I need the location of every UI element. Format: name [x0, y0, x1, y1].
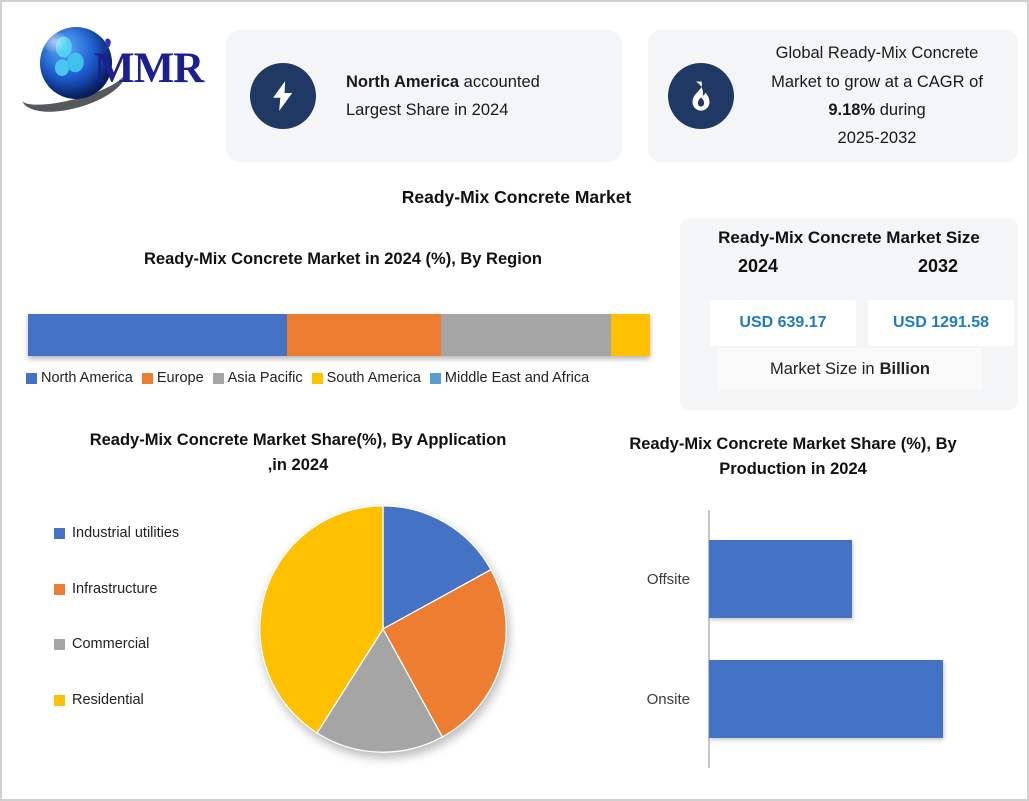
lightning-bolt-icon	[250, 63, 316, 129]
market-size-unit-bold: Billion	[880, 360, 930, 379]
market-size-unit-prefix: Market Size in	[770, 360, 875, 379]
region-legend-item[interactable]: South America	[312, 370, 421, 386]
legend-swatch-icon	[312, 373, 323, 384]
header-card-cagr-text: Global Ready-Mix Concrete Market to grow…	[750, 39, 1004, 153]
region-legend-label: North America	[41, 370, 133, 386]
application-legend-item[interactable]: Infrastructure	[54, 580, 234, 600]
application-legend-label: Infrastructure	[72, 580, 157, 600]
market-size-value-right: USD 1291.58	[868, 300, 1014, 346]
legend-swatch-icon	[54, 639, 65, 650]
pie-svg	[256, 502, 510, 756]
market-size-value-left: USD 639.17	[710, 300, 856, 346]
infographic-page: ’ MMR North America accounted Largest Sh…	[0, 0, 1029, 801]
page-title: Ready-Mix Concrete Market	[2, 187, 1029, 208]
production-chart-panel: Ready-Mix Concrete Market Share (%), By …	[568, 432, 1018, 782]
production-bar-row: Offsite	[608, 540, 1008, 618]
cagr-line2: Market to grow at a CAGR of	[750, 68, 1004, 96]
application-legend-label: Residential	[72, 691, 144, 711]
region-legend-label: Asia Pacific	[228, 370, 303, 386]
production-category-label: Onsite	[608, 660, 700, 738]
application-chart-title: Ready-Mix Concrete Market Share(%), By A…	[88, 428, 508, 478]
logo-wordmark: MMR	[94, 44, 203, 93]
region-chart-title: Ready-Mix Concrete Market in 2024 (%), B…	[48, 248, 638, 272]
header-bar: ’ MMR North America accounted Largest Sh…	[2, 2, 1029, 180]
application-chart-panel: Ready-Mix Concrete Market Share(%), By A…	[18, 424, 558, 784]
legend-swatch-icon	[54, 584, 65, 595]
region-stacked-bar	[28, 314, 650, 356]
legend-swatch-icon	[430, 373, 441, 384]
production-plot-area: OffsiteOnsite	[608, 510, 1008, 772]
region-legend-item[interactable]: Europe	[142, 370, 204, 386]
cagr-line1: Global Ready-Mix Concrete	[750, 39, 1004, 67]
region-bar-segment	[287, 314, 441, 356]
production-chart-title: Ready-Mix Concrete Market Share (%), By …	[588, 432, 998, 482]
application-legend-label: Commercial	[72, 635, 149, 655]
region-bar-segment	[441, 314, 611, 356]
application-pie-chart	[256, 502, 510, 756]
cagr-value: 9.18%	[828, 101, 875, 119]
production-category-label: Offsite	[608, 540, 700, 618]
region-bar-segment	[28, 314, 287, 356]
legend-swatch-icon	[54, 695, 65, 706]
region-chart-panel: Ready-Mix Concrete Market in 2024 (%), B…	[18, 242, 668, 410]
legend-swatch-icon	[26, 373, 37, 384]
market-size-title: Ready-Mix Concrete Market Size	[692, 228, 1006, 248]
production-bar	[709, 540, 852, 618]
legend-swatch-icon	[142, 373, 153, 384]
production-bar	[709, 660, 943, 738]
application-legend-item[interactable]: Commercial	[54, 635, 234, 655]
application-legend-item[interactable]: Industrial utilities	[54, 524, 234, 544]
region-line2: Largest Share in 2024	[346, 96, 540, 124]
region-line1-rest: accounted	[459, 73, 540, 91]
region-legend-label: South America	[327, 370, 421, 386]
header-card-cagr: Global Ready-Mix Concrete Market to grow…	[648, 30, 1018, 162]
application-legend-item[interactable]: Residential	[54, 691, 234, 711]
region-legend-label: Middle East and Africa	[445, 370, 589, 386]
region-chart-legend: North AmericaEuropeAsia PacificSouth Ame…	[26, 370, 666, 386]
cagr-period: 2025-2032	[750, 124, 1004, 152]
market-size-year-right: 2032	[888, 256, 988, 277]
legend-swatch-icon	[213, 373, 224, 384]
legend-swatch-icon	[54, 528, 65, 539]
market-size-panel: Ready-Mix Concrete Market Size 2024 2032…	[680, 218, 1018, 410]
header-card-region-text: North America accounted Largest Share in…	[346, 68, 540, 125]
region-legend-label: Europe	[157, 370, 204, 386]
application-legend-label: Industrial utilities	[72, 524, 179, 544]
header-card-region: North America accounted Largest Share in…	[226, 30, 622, 162]
application-chart-legend: Industrial utilitiesInfrastructureCommer…	[54, 524, 234, 746]
region-bar-segment	[611, 314, 650, 356]
flame-icon	[668, 63, 734, 129]
mmr-logo: ’ MMR	[20, 22, 220, 120]
market-size-unit: Market Size inBillion	[718, 348, 982, 390]
production-bar-row: Onsite	[608, 660, 1008, 738]
region-legend-item[interactable]: Asia Pacific	[213, 370, 303, 386]
region-legend-item[interactable]: North America	[26, 370, 133, 386]
region-legend-item[interactable]: Middle East and Africa	[430, 370, 589, 386]
market-size-year-left: 2024	[708, 256, 808, 277]
region-highlight: North America	[346, 73, 459, 91]
cagr-line3-rest: during	[875, 101, 925, 119]
